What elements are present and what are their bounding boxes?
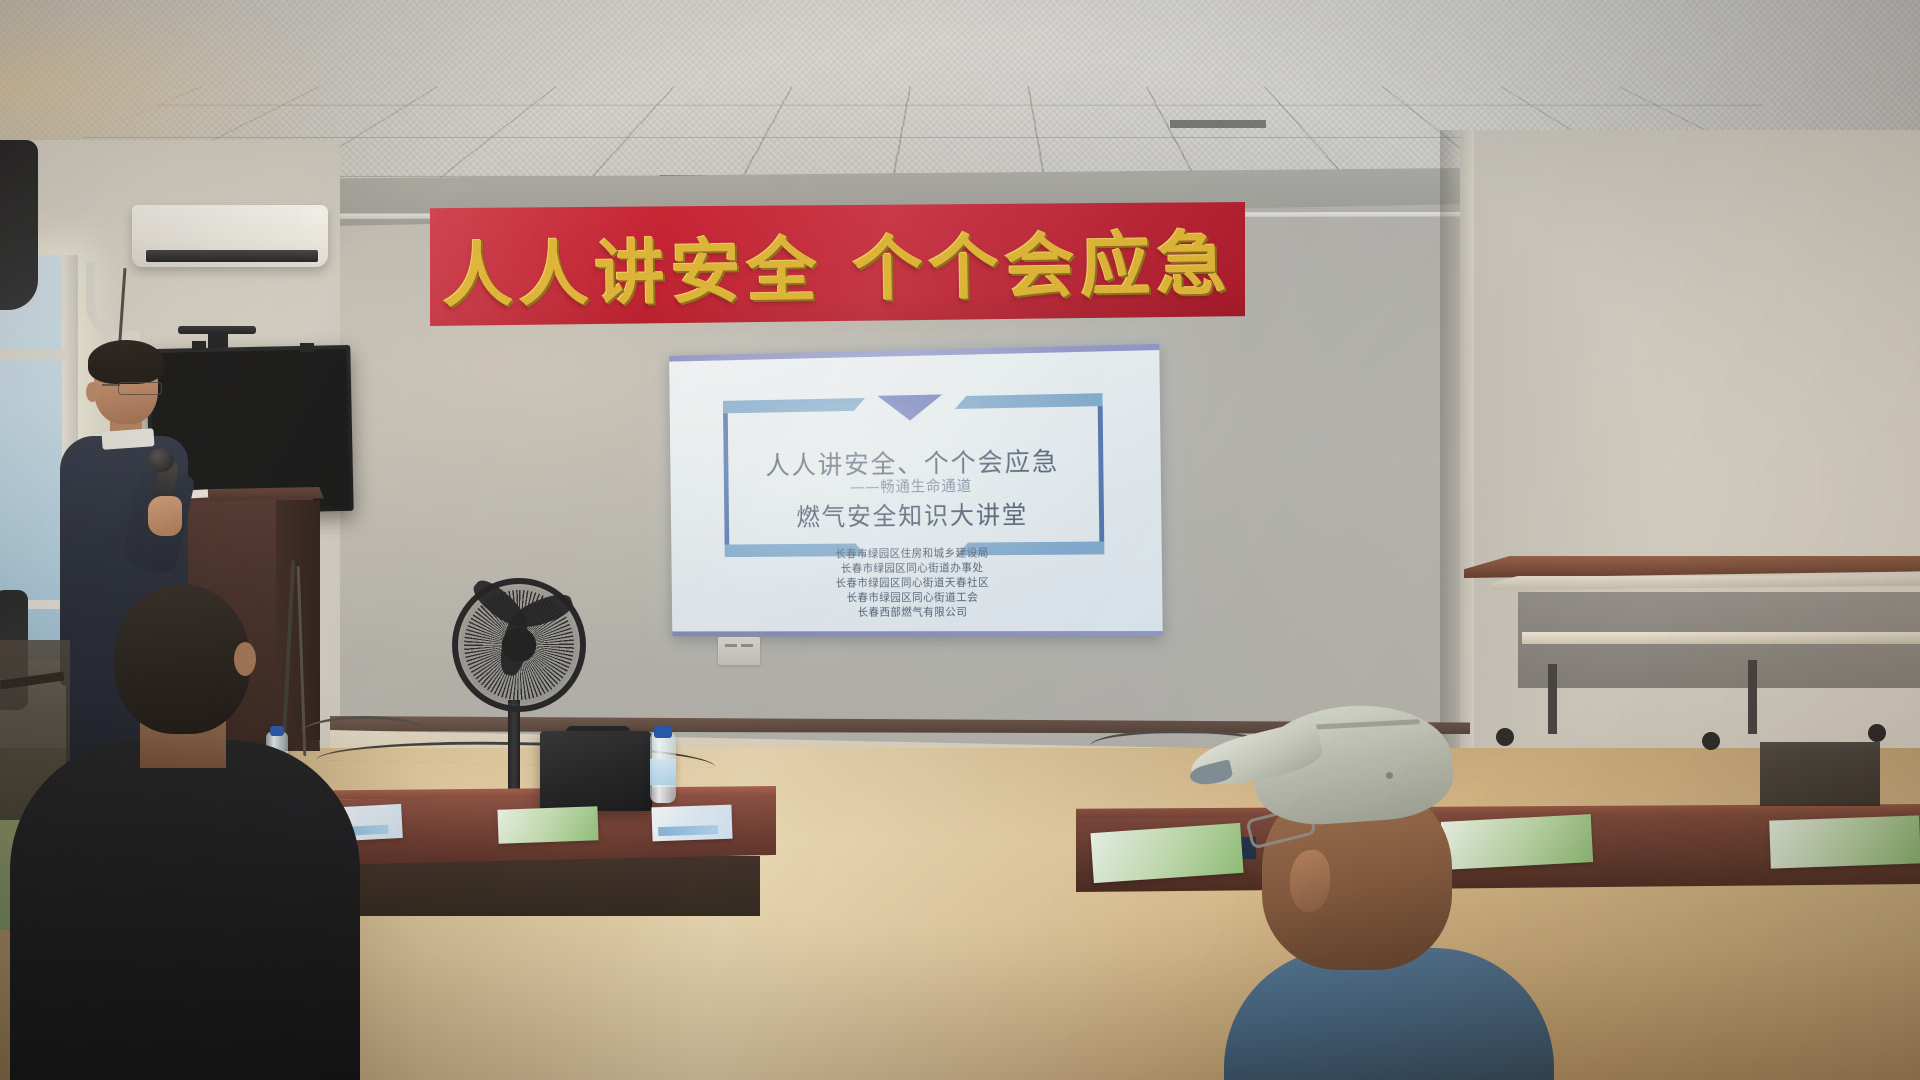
projection-screen: 人人讲安全、个个会应急 ——畅通生命通道 燃气安全知识大讲堂 长春市绿园区住房和…: [669, 344, 1163, 636]
ceiling-seam-icon: [1170, 120, 1266, 128]
brochure[interactable]: [651, 805, 732, 842]
attendee-ear: [234, 642, 256, 676]
water-bottle[interactable]: [650, 733, 676, 803]
banner-text-part1: 人人讲安全: [442, 214, 824, 321]
brochure-green[interactable]: [497, 806, 598, 843]
frame-corner-top-right: [955, 393, 1103, 409]
fan-pole: [508, 700, 520, 800]
list-item: 长春西部燃气有限公司: [672, 604, 1163, 620]
brochure-green[interactable]: [1769, 815, 1920, 868]
table-leg: [1748, 660, 1757, 734]
caster-wheel-icon: [1868, 724, 1886, 742]
slide-title-secondary: 燃气安全知识大讲堂: [671, 494, 1162, 534]
banner-text-part2: 个个会应急: [852, 207, 1234, 314]
presenter-collar: [101, 428, 154, 450]
attendee-head: [114, 584, 250, 734]
presenter-hair: [88, 340, 164, 384]
microphone-head-icon: [148, 448, 174, 472]
projected-slide: 人人讲安全、个个会应急 ——畅通生命通道 燃气安全知识大讲堂 长春市绿园区住房和…: [669, 344, 1163, 636]
fan-hub-icon: [502, 628, 536, 662]
bottle-cap: [654, 726, 672, 738]
cap-button-icon: [1386, 772, 1393, 779]
folded-table-rail: [1522, 632, 1920, 644]
folded-table-top: [1464, 556, 1920, 578]
frame-corner-top-left: [723, 398, 865, 413]
slide-bottom-band: [672, 631, 1162, 636]
attendee-torso: [10, 740, 360, 1080]
brochure-graphic: [658, 825, 718, 836]
slide-organization-list: 长春市绿园区住房和城乡建设局 长春市绿园区同心街道办事处 长春市绿园区同心街道天…: [671, 544, 1162, 620]
list-item: 长春市绿园区同心街道工会: [672, 589, 1163, 605]
triangle-down-icon: [877, 394, 942, 421]
room-photo-scene: 人人讲安全 个个会应急 人人讲安全、个个会应急 ——畅通生命通道 燃气安全知识大…: [0, 0, 1920, 1080]
attendee-ear: [1290, 850, 1330, 912]
attendee-black-shirt: [0, 580, 380, 1080]
presenter-hand: [148, 496, 182, 536]
tv-bracket-icon: [300, 343, 314, 352]
glasses-icon: [118, 382, 162, 395]
folded-table-plate: [1492, 576, 1920, 590]
wall-outlet[interactable]: [718, 637, 760, 665]
banner-text: 人人讲安全 个个会应急: [429, 196, 1246, 333]
upper-left-object: [0, 140, 38, 310]
bottle-label: [650, 759, 676, 785]
caster-wheel-icon: [1702, 732, 1720, 750]
front-table-legs: [330, 856, 760, 916]
presenter-ear: [86, 382, 99, 402]
portable-amplifier[interactable]: [540, 731, 652, 811]
pedestal-fan[interactable]: [452, 578, 586, 712]
red-banner: 人人讲安全 个个会应急: [430, 202, 1245, 326]
ac-vent-icon: [146, 250, 318, 262]
attendee-with-cap: [1190, 686, 1610, 1080]
